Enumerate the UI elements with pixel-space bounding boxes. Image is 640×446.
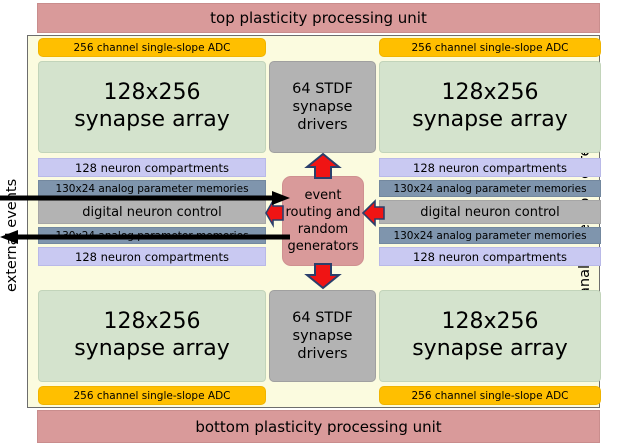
arrow-left-icon bbox=[363, 200, 385, 226]
adc-bottom-right-label: 256 channel single-slope ADC bbox=[411, 390, 568, 402]
router-line1: event bbox=[304, 187, 341, 204]
digital-neuron-control-right: digital neuron control bbox=[379, 200, 601, 224]
synapse-array-bottom-right-name: synapse array bbox=[412, 336, 568, 363]
adc-top-left: 256 channel single-slope ADC bbox=[38, 38, 266, 57]
bottom-plasticity-processing-unit-label: bottom plasticity processing unit bbox=[195, 418, 441, 436]
arrow-up-icon bbox=[306, 154, 340, 178]
router-line2: routing and bbox=[285, 204, 360, 221]
synapse-array-bottom-left-size: 128x256 bbox=[103, 309, 200, 336]
synapse-array-bottom-left-name: synapse array bbox=[74, 336, 230, 363]
synapse-array-top-right-name: synapse array bbox=[412, 107, 568, 134]
synapse-array-top-left-size: 128x256 bbox=[103, 80, 200, 107]
adc-top-right: 256 channel single-slope ADC bbox=[379, 38, 601, 57]
synapse-array-bottom-left: 128x256 synapse array bbox=[38, 290, 266, 382]
stdf-synapse-drivers-bottom: 64 STDF synapse drivers bbox=[269, 290, 376, 382]
stdf-bottom-line1: 64 STDF bbox=[292, 309, 353, 327]
adc-top-right-label: 256 channel single-slope ADC bbox=[411, 42, 568, 54]
external-events-arrow-in-icon bbox=[0, 191, 290, 205]
router-line3: random bbox=[298, 221, 348, 238]
stdf-bottom-line3: drivers bbox=[297, 345, 347, 363]
stdf-top-line1: 64 STDF bbox=[292, 80, 353, 98]
synapse-array-top-left: 128x256 synapse array bbox=[38, 61, 266, 153]
adc-bottom-right: 256 channel single-slope ADC bbox=[379, 386, 601, 405]
synapse-array-top-right: 128x256 synapse array bbox=[379, 61, 601, 153]
top-plasticity-processing-unit-label: top plasticity processing unit bbox=[210, 9, 427, 27]
stdf-top-line3: drivers bbox=[297, 116, 347, 134]
adc-bottom-left: 256 channel single-slope ADC bbox=[38, 386, 266, 405]
synapse-array-bottom-right: 128x256 synapse array bbox=[379, 290, 601, 382]
synapse-array-top-left-name: synapse array bbox=[74, 107, 230, 134]
parameter-memories-right-upper: 130x24 analog parameter memories bbox=[379, 180, 601, 197]
stdf-top-line2: synapse bbox=[293, 98, 353, 116]
neuron-compartments-right-lower: 128 neuron compartments bbox=[379, 247, 601, 266]
arrow-down-icon bbox=[306, 264, 340, 288]
stdf-synapse-drivers-top: 64 STDF synapse drivers bbox=[269, 61, 376, 153]
neuron-compartments-left-upper: 128 neuron compartments bbox=[38, 158, 266, 177]
router-line4: generators bbox=[288, 238, 359, 255]
synapse-array-top-right-size: 128x256 bbox=[441, 80, 538, 107]
stdf-bottom-line2: synapse bbox=[293, 327, 353, 345]
parameter-memories-right-lower: 130x24 analog parameter memories bbox=[379, 227, 601, 244]
neuron-compartments-left-lower: 128 neuron compartments bbox=[38, 247, 266, 266]
bottom-plasticity-processing-unit: bottom plasticity processing unit bbox=[37, 410, 600, 443]
adc-bottom-left-label: 256 channel single-slope ADC bbox=[73, 390, 230, 402]
event-routing-and-random-generators: event routing and random generators bbox=[282, 176, 364, 266]
top-plasticity-processing-unit: top plasticity processing unit bbox=[37, 3, 600, 33]
block-diagram: top plasticity processing unit analog ne… bbox=[0, 0, 640, 446]
external-events-arrow-out-icon bbox=[0, 230, 290, 244]
adc-top-left-label: 256 channel single-slope ADC bbox=[73, 42, 230, 54]
neuron-compartments-right-upper: 128 neuron compartments bbox=[379, 158, 601, 177]
external-events-label: external events bbox=[2, 135, 22, 335]
synapse-array-bottom-right-size: 128x256 bbox=[441, 309, 538, 336]
